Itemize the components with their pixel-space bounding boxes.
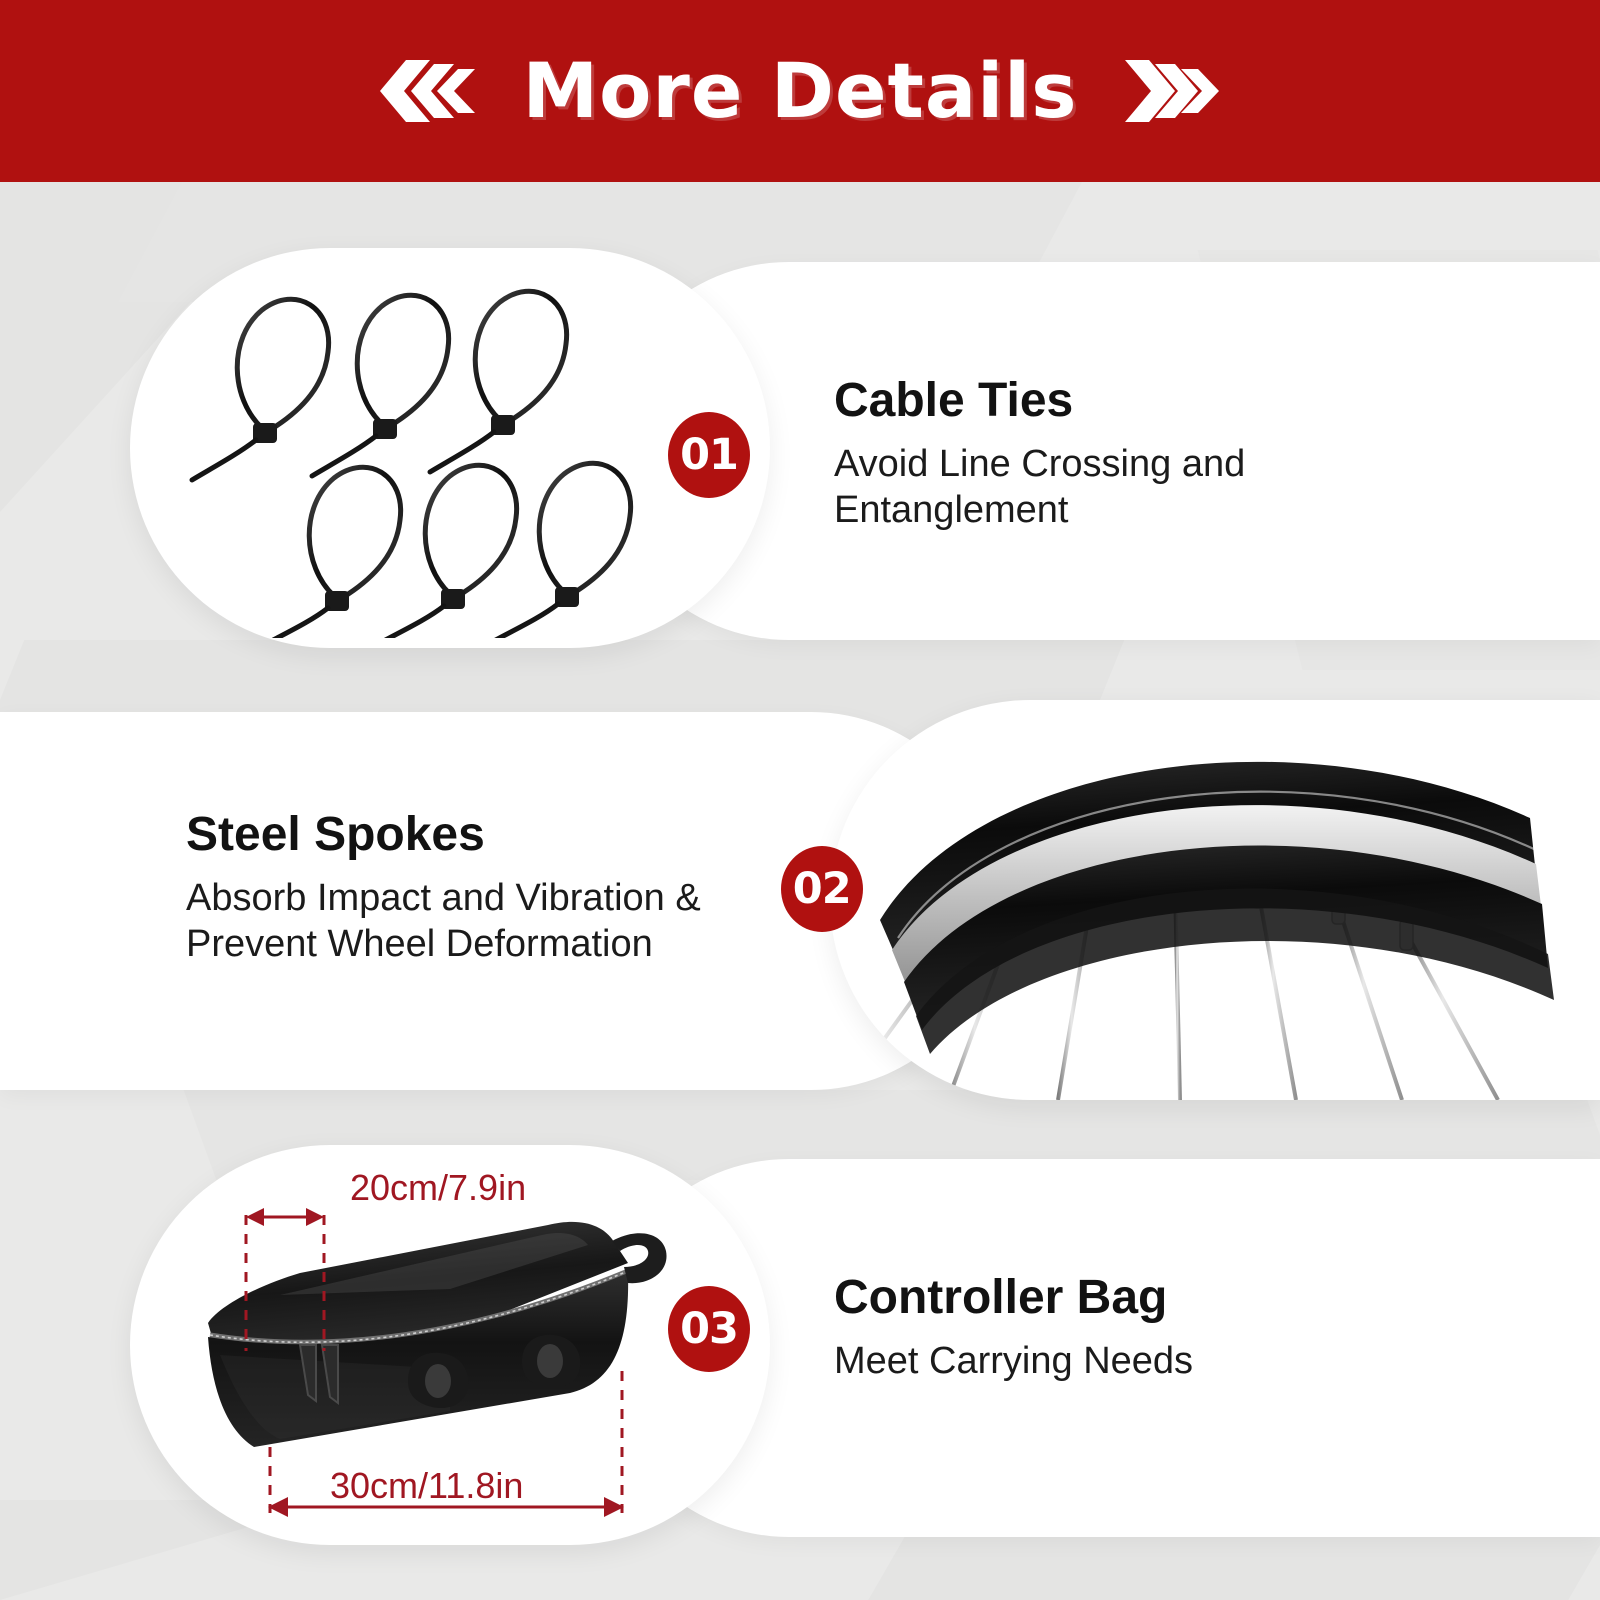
product-detail-infographic: More Details (0, 0, 1600, 1600)
controller-bag-photo: 20cm/7.9in 30cm/11.8in (150, 1155, 750, 1535)
bicycle-wheel-spokes-photo (830, 700, 1600, 1100)
feature-number-badge-03: 03 (668, 1286, 750, 1372)
feature-text-block-03: 03 Controller Bag Meet Carrying Needs (668, 1273, 1193, 1384)
bag-width-dimension-label: 20cm/7.9in (350, 1167, 526, 1209)
feature-description-02: Absorb Impact and Vibration & Prevent Wh… (186, 875, 701, 968)
bag-length-dimension-label: 30cm/11.8in (330, 1465, 523, 1507)
feature-number-badge-02: 02 (781, 846, 863, 932)
page-title: More Details (523, 53, 1078, 129)
feature-image-card-spokes (830, 700, 1600, 1100)
feature-section-01: 01 Cable Ties Avoid Line Crossing and En… (0, 248, 1600, 658)
header-banner: More Details (0, 0, 1600, 182)
feature-text-block-02: Steel Spokes Absorb Impact and Vibration… (186, 810, 863, 968)
feature-description-03: Meet Carrying Needs (834, 1338, 1193, 1384)
feature-title-01: Cable Ties (834, 376, 1245, 427)
feature-description-01: Avoid Line Crossing and Entanglement (834, 441, 1245, 534)
feature-section-02: Steel Spokes Absorb Impact and Vibration… (0, 700, 1600, 1105)
triple-chevron-left-icon (372, 60, 477, 122)
triple-chevron-right-icon (1123, 60, 1228, 122)
feature-number-badge-01: 01 (668, 412, 750, 498)
feature-text-block-01: 01 Cable Ties Avoid Line Crossing and En… (668, 376, 1245, 534)
cable-ties-photo (180, 268, 740, 638)
feature-section-03: 20cm/7.9in 30cm/11.8in 03 Controller Bag… (0, 1145, 1600, 1555)
feature-title-03: Controller Bag (834, 1273, 1193, 1324)
feature-title-02: Steel Spokes (186, 810, 701, 861)
